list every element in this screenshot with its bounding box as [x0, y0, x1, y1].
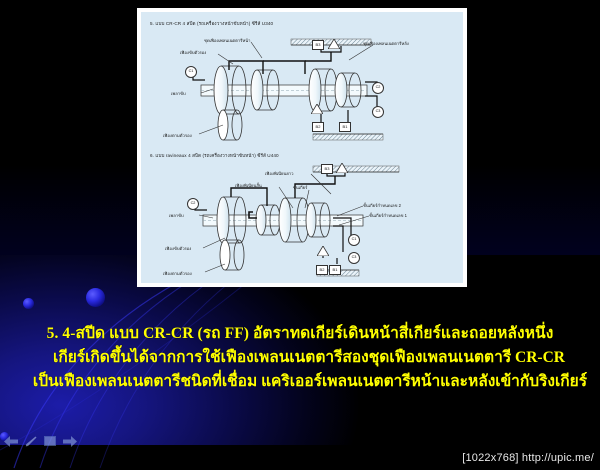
figure-5-node-b1: B1: [339, 122, 351, 132]
figure-5-node-b3: B3: [312, 40, 324, 50]
diagram-image-frame[interactable]: 5. แบบ CR-CR 4 สปีด (รถเครื่องวางหน้าขับ…: [137, 8, 467, 287]
figure-6-drawing: [145, 162, 459, 282]
figure-6-node-b1: B1: [329, 265, 341, 275]
figure-6-title: 6. แบบ ravineaux 4 สปีด (รถเครื่องวางหน้…: [150, 153, 279, 160]
next-arrow-icon[interactable]: [63, 436, 77, 447]
slideshow-navigation-bar[interactable]: [4, 434, 88, 448]
figure-5-label-rear-planetary: ชุดเฟืองเพลนเนตตารีหลัง: [363, 40, 409, 47]
figure-5-drawing: [145, 30, 459, 148]
pen-icon[interactable]: [25, 436, 37, 447]
figure-6-label-long-pinion: เฟืองพิเนียนยาว: [265, 170, 293, 177]
figure-6-node-c1: C1: [348, 234, 360, 246]
figure-6-label-gear-stage-2: ชั้นเกียร์กำหนดเลข 2: [363, 202, 401, 209]
figure-6-node-f1-icon: [317, 246, 329, 256]
figure-5-label-counter-drive-gear: เฟืองขับตัวรอง: [180, 49, 206, 56]
figure-5-label-drive-shaft: เพลาขับ: [171, 90, 186, 97]
figure-6-label-short-pinion: เฟืองพิเนียนสั้น: [235, 182, 262, 189]
figure-6-node-c3: C3: [348, 252, 360, 264]
menu-icon[interactable]: [44, 436, 56, 446]
figure-5-node-c3: C3: [372, 106, 384, 118]
presentation-slide: 5. แบบ CR-CR 4 สปีด (รถเครื่องวางหน้าขับ…: [0, 0, 600, 470]
figure-5-node-c2: C2: [372, 82, 384, 94]
background-dot-small: [23, 298, 34, 309]
figure-6-label-gear-stage-1: ชั้นเกียร์กำหนดเลข 1: [369, 212, 407, 219]
figure-5-title: 5. แบบ CR-CR 4 สปีด (รถเครื่องวางหน้าขับ…: [150, 21, 273, 28]
slide-caption: 5. 4-สปีด แบบ CR-CR (รถ FF) อัตราทดเกียร…: [0, 322, 600, 394]
diagram-image: 5. แบบ CR-CR 4 สปีด (รถเครื่องวางหน้าขับ…: [141, 12, 463, 283]
previous-arrow-icon[interactable]: [4, 436, 18, 447]
figure-6-node-f2-icon: [336, 163, 348, 173]
figure-5-label-front-planetary: ชุดเฟืองเพลนเนตตารีหน้า: [204, 37, 250, 44]
caption-line-3: เป็นเฟืองเพลนเนตตารีชนิดที่เชื่อม แคริเอ…: [0, 370, 600, 394]
status-bar-resolution-source: [1022x768] http://upic.me/: [462, 452, 594, 464]
figure-6-label-sun-gear: ซันเกียร์: [293, 184, 307, 191]
figure-5-label-counter-driven-gear: เฟืองตามตัวรอง: [163, 132, 192, 139]
figure-6-label-counter-driven-gear: เฟืองตามตัวรอง: [163, 270, 192, 277]
figure-6-node-c2: C2: [187, 198, 199, 210]
figure-5-node-f2-icon: [328, 39, 340, 49]
figure-5-node-c1: C1: [185, 66, 197, 78]
figure-5-node-f1-icon: [311, 104, 323, 114]
figure-6-label-counter-drive-gear: เฟืองขับตัวรอง: [165, 245, 191, 252]
figure-6-label-drive-shaft: เพลาขับ: [169, 212, 184, 219]
figure-5-node-b2: B2: [312, 122, 324, 132]
caption-line-1: 5. 4-สปีด แบบ CR-CR (รถ FF) อัตราทดเกียร…: [0, 322, 600, 346]
figure-6-node-b3: B3: [321, 164, 333, 174]
caption-line-2: เกียร์เกิดขึ้นได้จากการใช้เฟืองเพลนเนตตา…: [0, 346, 600, 370]
background-dot-large: [86, 288, 105, 307]
figure-6-node-b2: B2: [316, 265, 328, 275]
